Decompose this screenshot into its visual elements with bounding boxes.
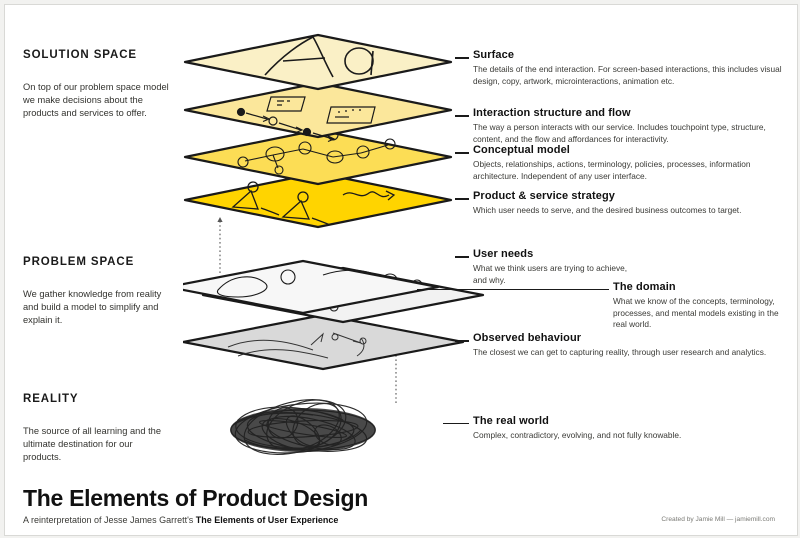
annotation-title: The domain	[613, 281, 785, 293]
annotation-title: Conceptual model	[473, 144, 785, 156]
annotation-the-real-world: The real world Complex, contradictory, e…	[473, 415, 785, 442]
leader-line	[455, 340, 469, 342]
section-label: SOLUTION SPACE	[23, 49, 173, 61]
layered-diagram	[183, 25, 503, 485]
annotation-description: Which user needs to serve, and the desir…	[473, 205, 785, 217]
annotation-conceptual-model: Conceptual model Objects, relationships,…	[473, 144, 785, 182]
annotation-description: The closest we can get to capturing real…	[473, 347, 785, 359]
annotation-description: What we think users are trying to achiev…	[473, 263, 633, 286]
leader-line	[455, 152, 469, 154]
leader-line	[455, 256, 469, 258]
leader-line	[443, 423, 469, 424]
annotation-title: The real world	[473, 415, 785, 427]
credit-line: Created by Jamie Mill — jamiemill.com	[661, 516, 775, 523]
annotation-description: The way a person interacts with our serv…	[473, 122, 785, 145]
layer-the-real-world	[230, 390, 376, 464]
poster-canvas: SOLUTION SPACE On top of our problem spa…	[4, 4, 798, 536]
annotation-title: Surface	[473, 49, 785, 61]
leader-line	[455, 115, 469, 117]
annotation-title: Product & service strategy	[473, 190, 785, 202]
poster-title-block: The Elements of Product Design A reinter…	[23, 485, 368, 525]
annotation-description: Objects, relationships, actions, termino…	[473, 159, 785, 182]
section-reality: REALITY The source of all learning and t…	[23, 393, 173, 465]
annotation-title: Interaction structure and flow	[473, 107, 785, 119]
layer-interaction-structure-and-flow	[185, 83, 451, 142]
section-body: On top of our problem space model we mak…	[23, 81, 173, 121]
annotation-description: Complex, contradictory, evolving, and no…	[473, 430, 785, 442]
section-body: We gather knowledge from reality and bui…	[23, 288, 173, 328]
section-body: The source of all learning and the ultim…	[23, 425, 173, 465]
annotation-description: The details of the end interaction. For …	[473, 64, 785, 87]
leader-line	[455, 57, 469, 59]
annotation-description: What we know of the concepts, terminolog…	[613, 296, 785, 331]
page-title: The Elements of Product Design	[23, 485, 368, 512]
annotation-the-domain: The domain What we know of the concepts,…	[613, 281, 785, 331]
annotation-user-needs: User needs What we think users are tryin…	[473, 248, 633, 286]
annotation-observed-behaviour: Observed behaviour The closest we can ge…	[473, 332, 785, 359]
leader-line	[417, 289, 609, 290]
leader-line	[455, 198, 469, 200]
annotation-interaction-structure-and-flow: Interaction structure and flow The way a…	[473, 107, 785, 145]
layer-surface	[185, 35, 451, 89]
section-solution-space: SOLUTION SPACE On top of our problem spa…	[23, 49, 173, 121]
layer-observed-behaviour	[183, 315, 463, 369]
subtitle-reference: The Elements of User Experience	[196, 515, 339, 525]
poster-subtitle: A reinterpretation of Jesse James Garret…	[23, 515, 368, 525]
annotation-surface: Surface The details of the end interacti…	[473, 49, 785, 87]
flow-arrow-problem-to-solution	[217, 217, 222, 273]
layer-conceptual-model	[185, 130, 451, 184]
section-problem-space: PROBLEM SPACE We gather knowledge from r…	[23, 256, 173, 328]
annotation-product-and-service-strategy: Product & service strategy Which user ne…	[473, 190, 785, 217]
annotation-title: Observed behaviour	[473, 332, 785, 344]
subtitle-prefix: A reinterpretation of Jesse James Garret…	[23, 515, 196, 525]
section-label: PROBLEM SPACE	[23, 256, 173, 268]
annotation-title: User needs	[473, 248, 633, 260]
section-label: REALITY	[23, 393, 173, 405]
